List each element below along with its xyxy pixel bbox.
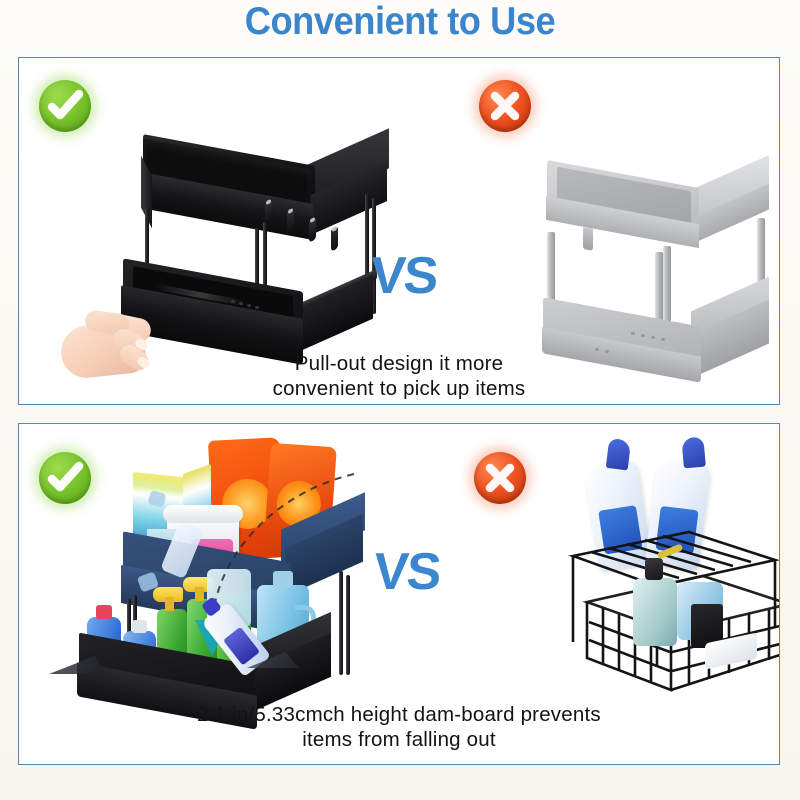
infographic-page: Convenient to Use [0,0,800,800]
page-title: Convenient to Use [28,0,772,46]
panel-2-caption: 2.1 in/5.33cmch height dam-board prevent… [59,702,739,752]
comparison-panel-2: VS [18,423,780,765]
grey-fixed-rack [535,166,780,381]
comparison-panel-1: VS [18,57,780,405]
check-badge [39,80,91,132]
vs-label-1: VS [369,246,439,306]
cross-badge [479,80,531,132]
black-wire-rack [539,452,780,717]
panel-1-caption: Pull-out design it more convenient to pi… [79,351,719,401]
soap-dispenser [633,578,677,646]
